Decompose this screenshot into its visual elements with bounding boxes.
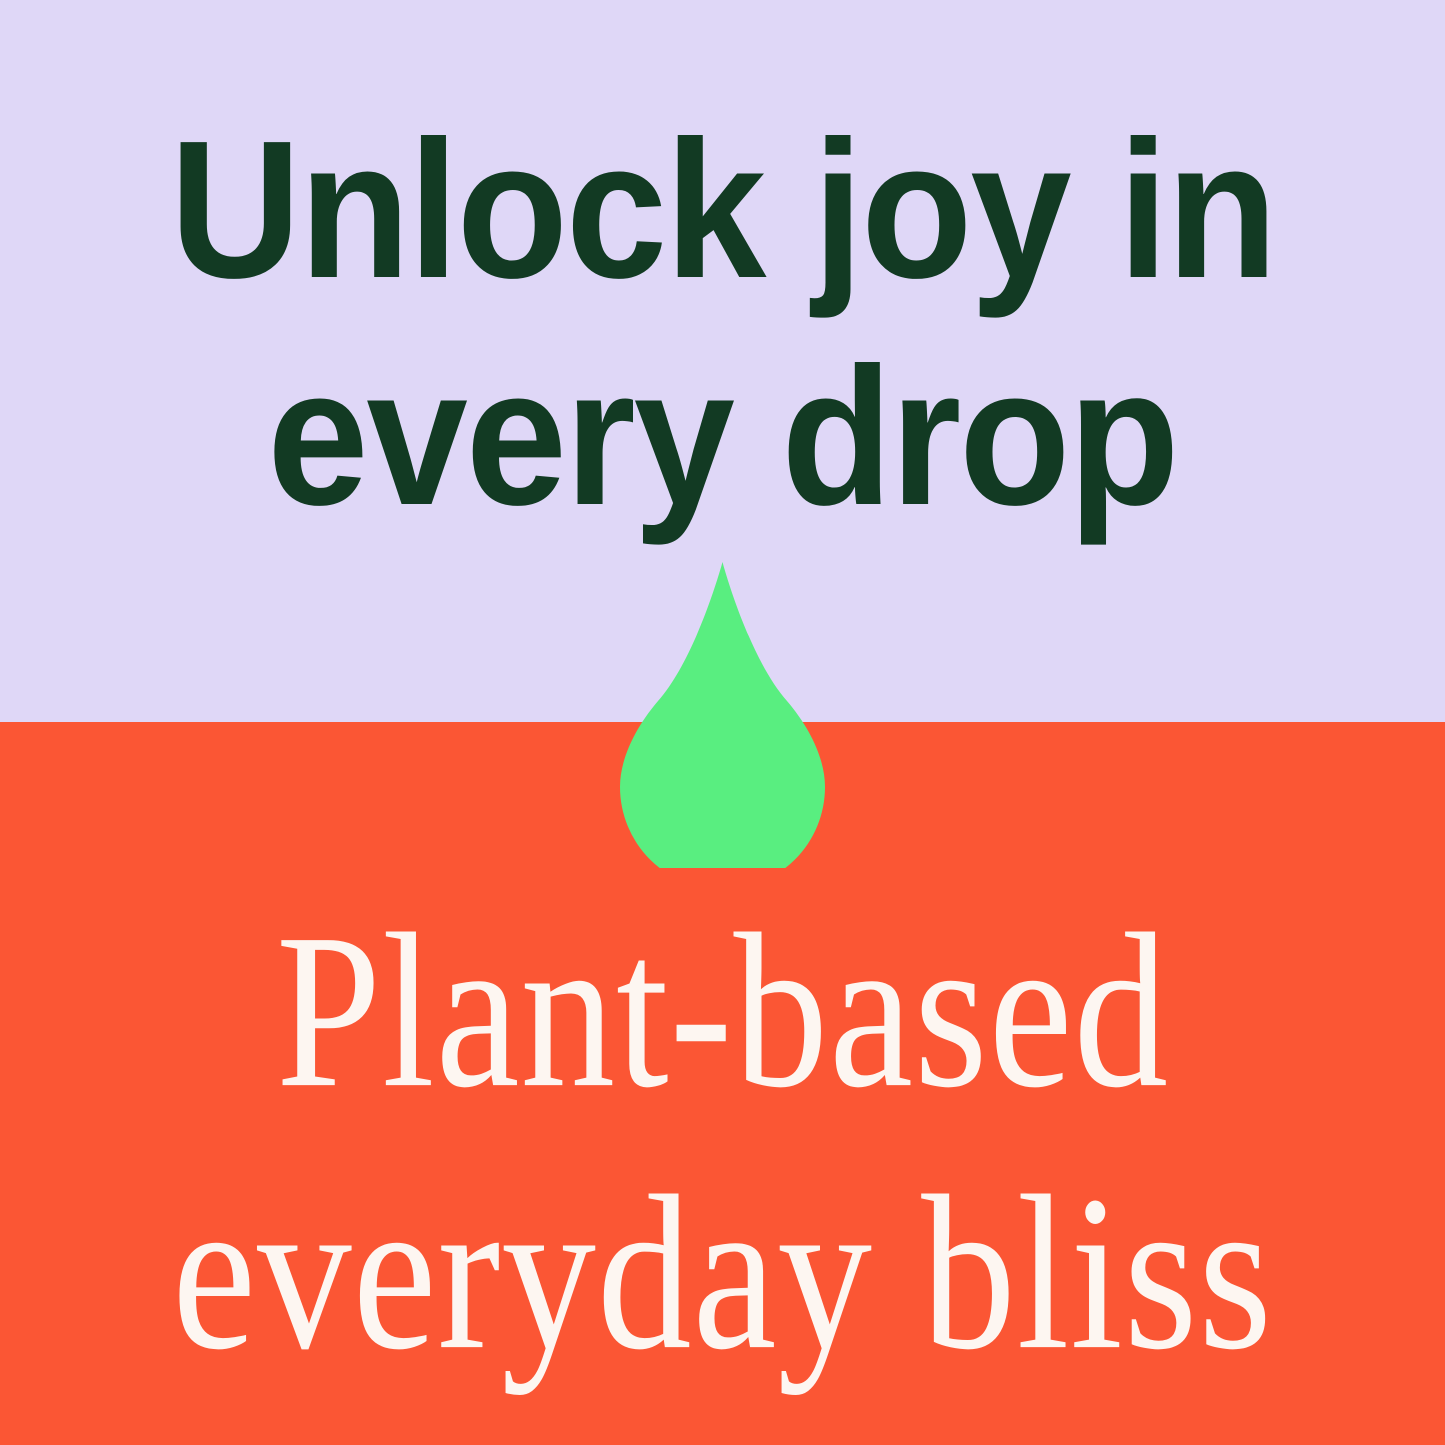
subline-line-1: Plant-based: [276, 876, 1169, 1146]
headline-line-2: every drop: [267, 323, 1177, 550]
water-drop-icon: [620, 562, 825, 868]
headline-line-1: Unlock joy in: [170, 96, 1276, 323]
water-drop-shape: [620, 562, 825, 868]
subline-block: Plant-based everyday bliss: [0, 880, 1445, 1405]
product-marketing-poster: Unlock joy in every drop Plant-based eve…: [0, 0, 1445, 1445]
headline-block: Unlock joy in every drop: [0, 0, 1445, 560]
subline-line-2: everyday bliss: [172, 1138, 1273, 1408]
